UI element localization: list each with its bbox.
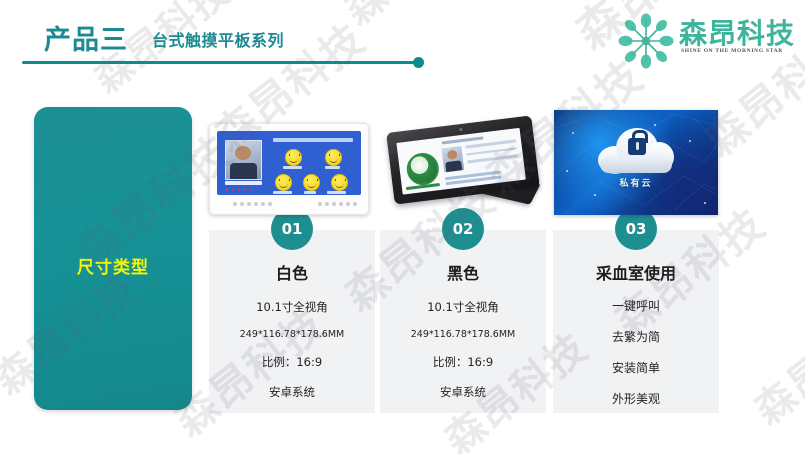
card-feature-line: 一键呼叫 [553,297,719,314]
slide-header: 产品三 台式触摸平板系列 [0,0,805,86]
card-heading: 采血室使用 [553,260,719,284]
smiley-face-icon [275,174,292,191]
smiley-face-icon [331,174,348,191]
card-feature-line: 外形美观 [553,390,719,407]
product-card[interactable]: 01 白色 10.1寸全视角 249*116.78*178.6MM 比例：16:… [209,230,375,413]
camera-icon [459,128,462,131]
speaker-dots-icon [233,202,272,206]
card-heading: 白色 [209,260,375,284]
card-spec-line: 安卓系统 [209,384,375,400]
card-spec-line: 比例：16:9 [209,354,375,370]
portrait-photo [441,146,464,172]
card-heading: 黑色 [380,260,546,284]
cloud-icon [598,128,674,172]
white-tablet-photo [209,123,369,215]
bezel-vents [210,201,368,209]
face-caption [304,191,316,194]
line-end-dot-icon [413,57,424,68]
card-spec-line: 249*116.78*178.6MM [209,329,375,340]
badge-caption [406,183,440,190]
card-spec-line: 10.1寸全视角 [380,299,546,315]
header-divider [22,61,420,64]
smiley-face-icon [325,149,342,166]
speaker-dots-icon [318,202,357,206]
card-feature-line: 去繁为简 [553,328,719,345]
page-title: 产品三 [44,18,128,57]
rating-faces [273,147,355,191]
lock-icon [628,138,646,155]
card-spec-line: 安卓系统 [380,384,546,400]
smiley-face-icon [303,174,320,191]
green-circle-badge-icon [405,151,441,187]
star-rating [225,188,253,192]
face-caption [327,191,346,194]
card-spec-line: 249*116.78*178.6MM [380,329,546,340]
face-caption [283,166,302,169]
face-caption [325,166,340,169]
smiley-face-icon [285,149,302,166]
size-type-label: 尺寸类型 [34,253,192,278]
slide: 产品三 台式触摸平板系列 [0,0,805,454]
black-tablet-photo [382,118,547,218]
name-label [225,181,262,185]
info-fields [465,139,518,168]
face-caption [273,191,292,194]
card-spec-line: 10.1寸全视角 [209,299,375,315]
page-subtitle: 台式触摸平板系列 [152,27,284,51]
card-body: 白色 10.1寸全视角 249*116.78*178.6MM 比例：16:9 安… [209,260,375,400]
card-body: 采血室使用 一键呼叫 去繁为简 安装简单 外形美观 [553,260,719,421]
card-feature-line: 安装简单 [553,359,719,376]
size-type-panel: 尺寸类型 [34,107,192,410]
portrait-photo [225,140,262,180]
private-cloud-label: 私有云 [554,176,718,189]
footer-text [445,171,502,186]
card-spec-line: 比例：16:9 [380,354,546,370]
private-cloud-image: 私有云 [554,110,718,215]
product-card[interactable]: 02 黑色 10.1寸全视角 249*116.78*178.6MM 比例：16:… [380,230,546,413]
tablet-body [209,123,369,215]
screen-headline [273,138,353,142]
watermark-text: 森昂科技 [740,287,805,436]
card-body: 黑色 10.1寸全视角 249*116.78*178.6MM 比例：16:9 安… [380,260,546,400]
id-card-screen-icon [396,128,525,195]
product-card[interactable]: 03 采血室使用 一键呼叫 去繁为简 安装简单 外形美观 [553,230,719,413]
satisfaction-survey-screen-icon [217,131,361,195]
